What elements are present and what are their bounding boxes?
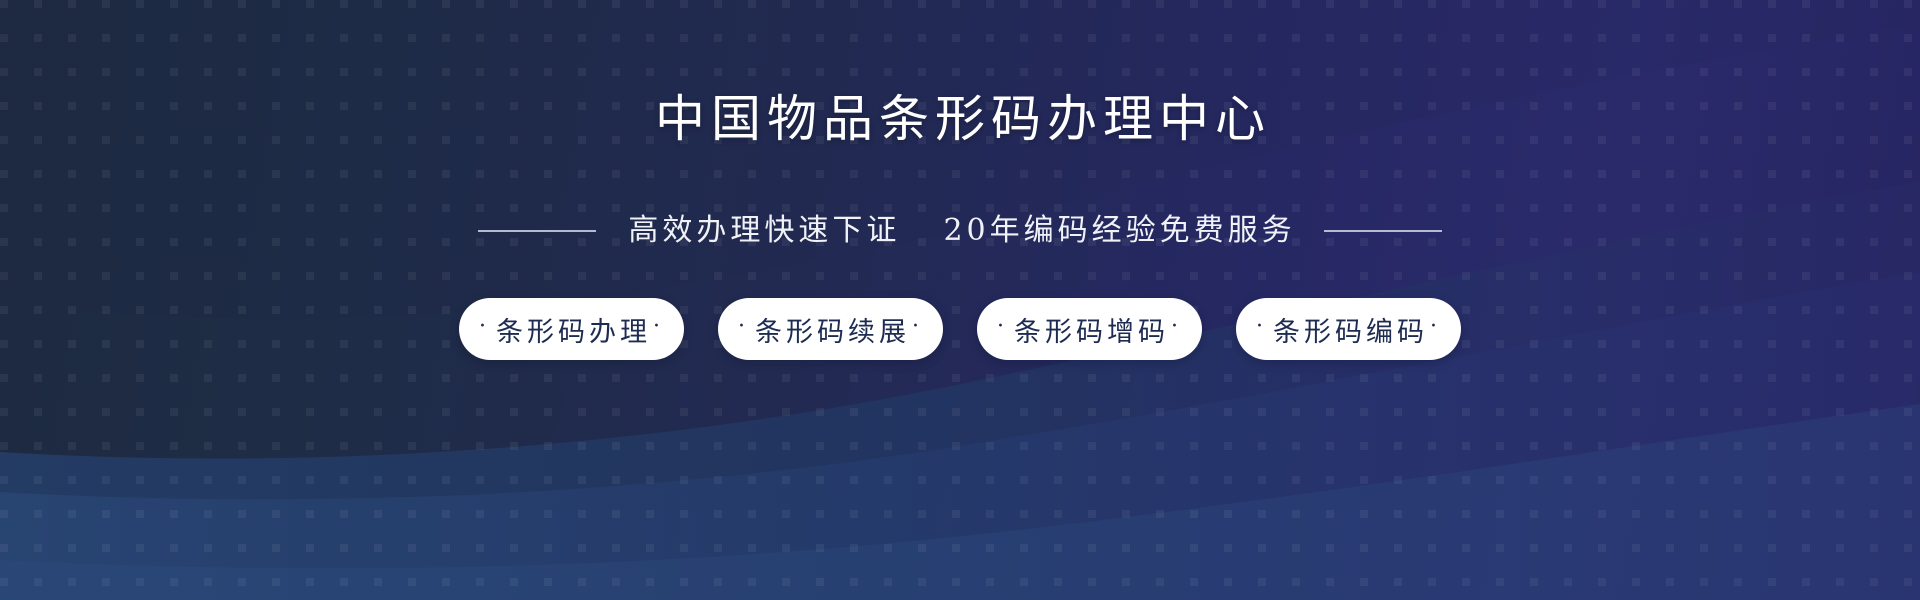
bullet-dot-icon: · (653, 316, 664, 338)
subtitle-rule-right (1324, 230, 1442, 232)
bullet-dot-icon: · (1171, 316, 1182, 338)
bullet-dot-icon: · (479, 316, 490, 338)
bullet-dot-icon: · (997, 316, 1008, 338)
promotional-banner: 中国物品条形码办理中心 高效办理快速下证 20年编码经验免费服务 · 条形码办理… (0, 0, 1920, 600)
subtitle-phrase-right: 20年编码经验免费服务 (943, 213, 1295, 248)
subtitle-text: 高效办理快速下证 20年编码经验免费服务 (624, 216, 1295, 246)
service-pill-label: 条形码编码 (1267, 310, 1430, 349)
bullet-dot-icon: · (1430, 316, 1441, 338)
bullet-dot-icon: · (1256, 316, 1267, 338)
page-title: 中国物品条形码办理中心 (649, 94, 1271, 144)
bullet-dot-icon: · (912, 316, 923, 338)
subtitle-rule-left (478, 230, 596, 232)
banner-content: 中国物品条形码办理中心 高效办理快速下证 20年编码经验免费服务 · 条形码办理… (0, 0, 1920, 600)
subtitle-phrase-left: 高效办理快速下证 (628, 213, 900, 248)
bullet-dot-icon: · (738, 316, 749, 338)
service-pill-barcode-renew[interactable]: · 条形码续展 · (718, 298, 943, 360)
service-pill-label: 条形码办理 (490, 310, 653, 349)
subtitle-row: 高效办理快速下证 20年编码经验免费服务 (478, 216, 1441, 246)
service-pill-label: 条形码续展 (749, 310, 912, 349)
service-pill-label: 条形码增码 (1008, 310, 1171, 349)
service-pill-barcode-apply[interactable]: · 条形码办理 · (459, 298, 684, 360)
service-pill-barcode-addcode[interactable]: · 条形码增码 · (977, 298, 1202, 360)
service-pill-barcode-encode[interactable]: · 条形码编码 · (1236, 298, 1461, 360)
service-pill-row: · 条形码办理 · · 条形码续展 · · 条形码增码 · · 条形码编码 · (459, 298, 1461, 360)
